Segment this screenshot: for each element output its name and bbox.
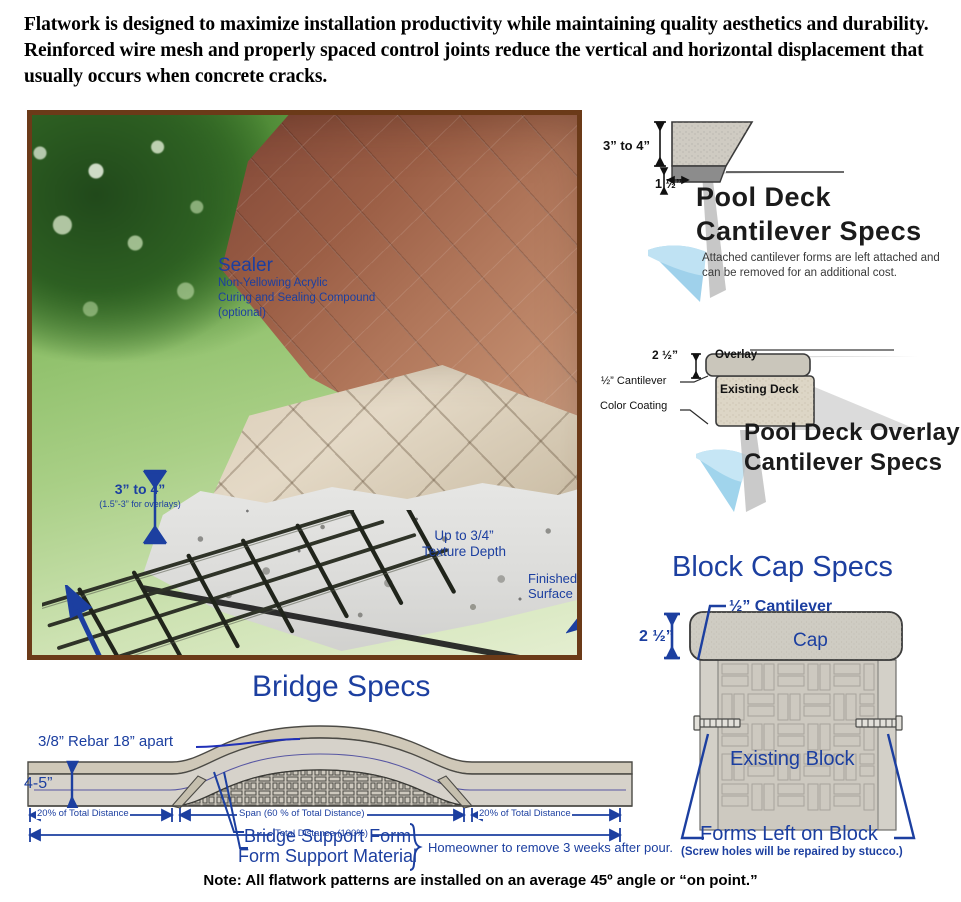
bridge-dim-right: 20% of Total Distance: [478, 808, 572, 819]
thickness-note: (1.5”-3” for overlays): [99, 499, 181, 509]
texture-line1: Up to 3/4”: [434, 528, 493, 543]
bridge-support-form-label: Bridge Support Form: [244, 826, 411, 847]
block-cap-cantilever-label: ½” Cantilever: [729, 598, 832, 616]
slab-thickness-callout: 3” to 4” (1.5”-3” for overlays): [92, 483, 188, 511]
pd-title-line2: Cantilever Specs: [696, 216, 922, 246]
pool-deck-cantilever-title: Pool Deck Cantilever Specs: [696, 180, 922, 248]
header-paragraph: Flatwork is designed to maximize install…: [24, 12, 944, 90]
main-illustration-panel: Sealer Non-Yellowing Acrylic Curing and …: [27, 110, 582, 660]
bridge-dim-left: 20% of Total Distance: [36, 808, 130, 819]
pd-dim-top: 3” to 4”: [603, 138, 650, 153]
pdo-title-line2: Cantilever Specs: [744, 449, 942, 476]
thickness-value: 3” to 4”: [115, 481, 166, 497]
pdo-dim-overlay: 2 ½”: [652, 348, 678, 362]
pd-dim-bottom: 1 ½”: [655, 177, 682, 191]
block-cap-forms-label: Forms Left on Block: [700, 823, 878, 846]
bridge-homeowner-note: Homeowner to remove 3 weeks after pour.: [428, 840, 673, 855]
footer-note: Note: All flatwork patterns are installe…: [0, 872, 961, 889]
pdo-label-overlay: Overlay: [715, 349, 757, 361]
bridge-dim-span: Span (60 % of Total Distance): [237, 808, 367, 819]
pdo-label-cantilever: ½” Cantilever: [601, 375, 666, 387]
texture-line2: Texture Depth: [422, 544, 506, 559]
block-cap-existing-block-label: Existing Block: [730, 748, 855, 771]
texture-depth-callout: Up to 3/4” Texture Depth: [404, 528, 524, 560]
block-cap-forms-note: (Screw holes will be repaired by stucco.…: [681, 846, 903, 858]
pool-deck-cantilever-description: Attached cantilever forms are left attac…: [702, 251, 958, 281]
flatwork-spec-sheet: Flatwork is designed to maximize install…: [0, 0, 961, 902]
bridge-form-support-material-label: Form Support Material: [238, 846, 417, 867]
finished-surface-label: Finished Surface: [528, 571, 577, 601]
bridge-rebar-label: 3/8” Rebar 18” apart: [38, 733, 173, 750]
block-cap-height-label: 2 ½”: [639, 628, 674, 646]
block-cap-cap-label: Cap: [793, 630, 828, 652]
pd-title-line1: Pool Deck: [696, 182, 831, 212]
sealer-line2: Curing and Sealing Compound: [218, 292, 375, 304]
pdo-label-color-coating: Color Coating: [600, 400, 667, 412]
bridge-specs-title: Bridge Specs: [252, 670, 430, 704]
bridge-thickness-label: 4-5”: [24, 775, 52, 793]
sealer-title: Sealer: [218, 259, 375, 273]
pdo-title-line1: Pool Deck Overlay: [744, 419, 960, 446]
block-cap-title: Block Cap Specs: [672, 551, 893, 584]
pdo-label-existing-deck: Existing Deck: [720, 382, 799, 396]
sealer-callout: Sealer Non-Yellowing Acrylic Curing and …: [218, 259, 375, 320]
sealer-line1: Non-Yellowing Acrylic: [218, 277, 328, 289]
sealer-line3: (optional): [218, 307, 266, 319]
pool-deck-overlay-title: Pool Deck Overlay Cantilever Specs: [744, 418, 960, 478]
